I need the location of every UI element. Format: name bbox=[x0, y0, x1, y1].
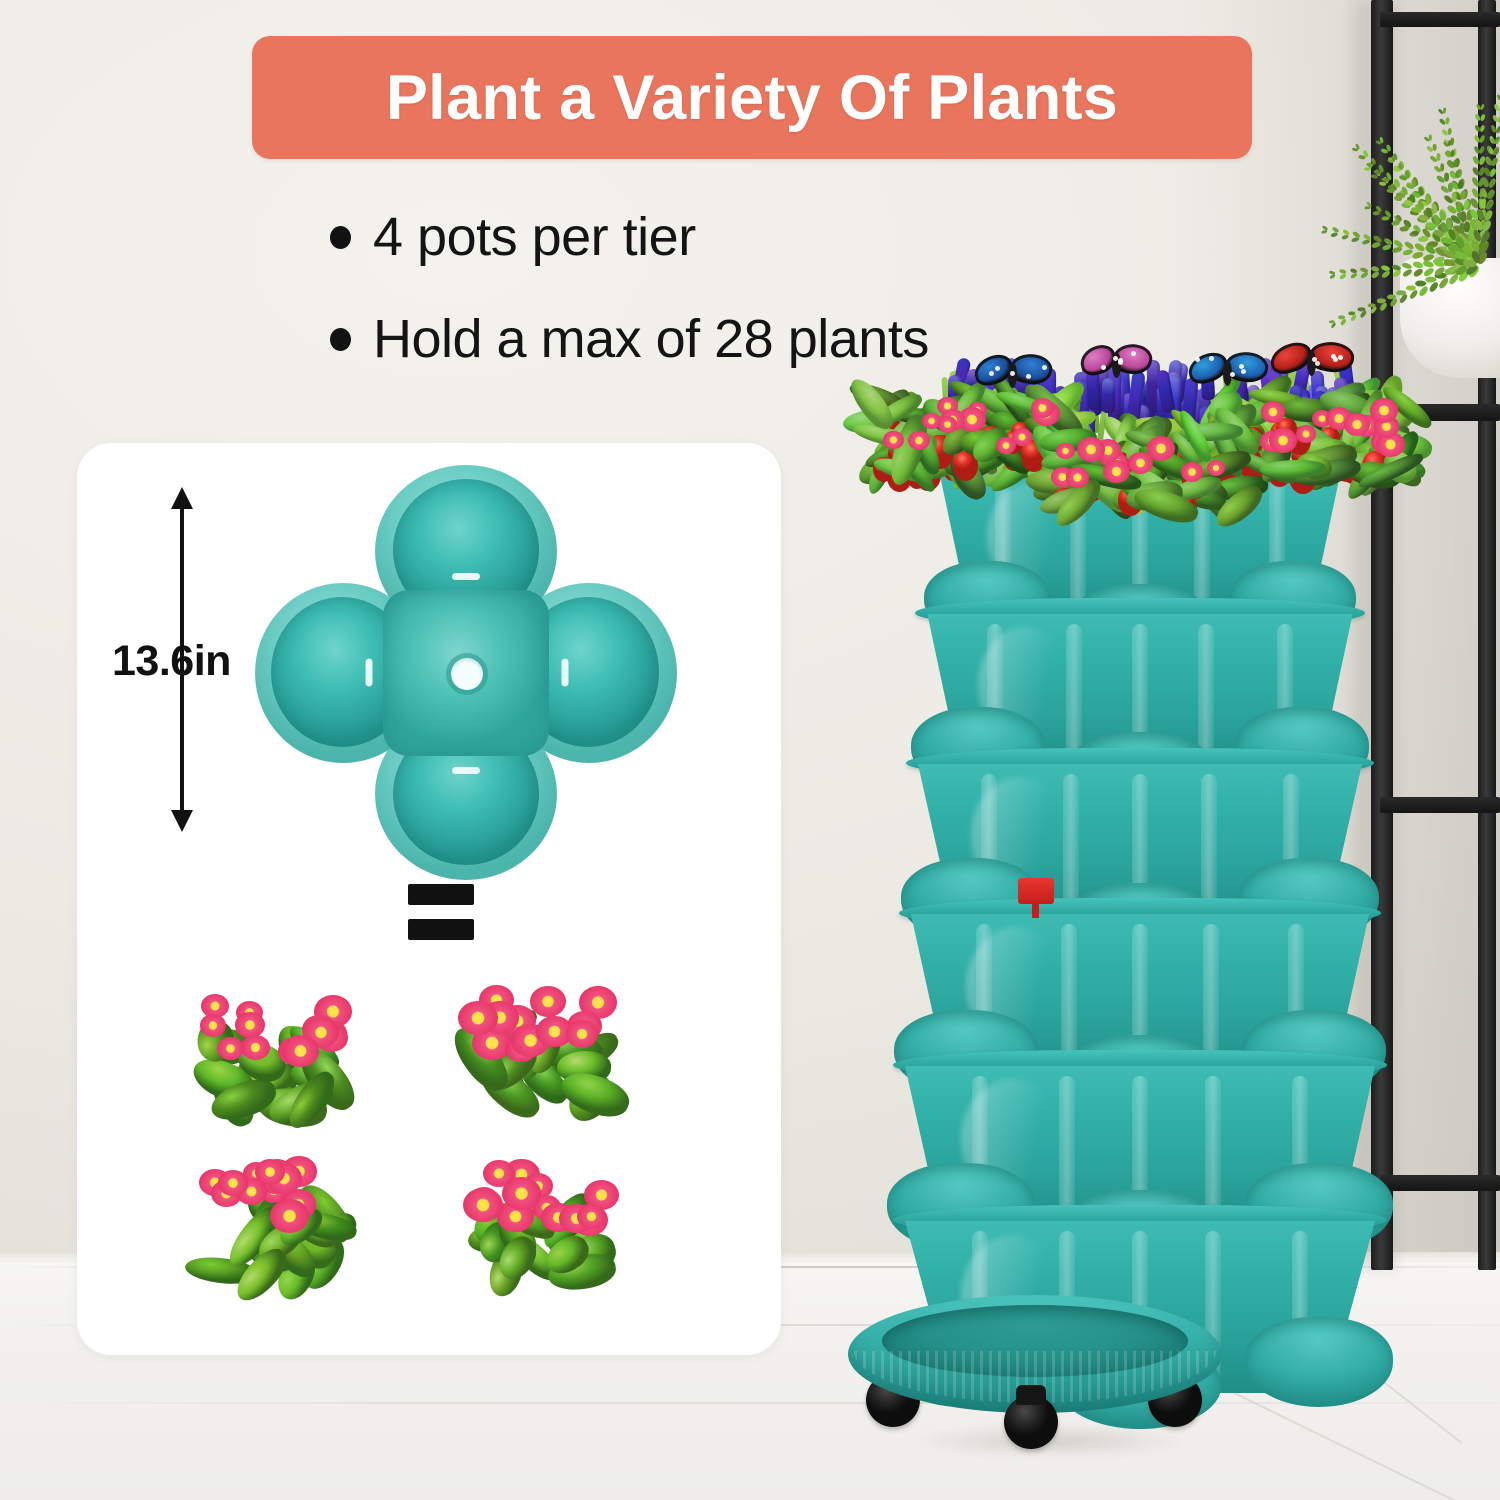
bullet-dot-icon bbox=[330, 328, 351, 351]
butterfly-ornament bbox=[1270, 342, 1354, 388]
primrose-plant bbox=[183, 1147, 368, 1277]
dimension-label: 13.6in bbox=[112, 637, 231, 686]
shelf-rail-2 bbox=[1380, 797, 1500, 813]
plant-marker-tag bbox=[1018, 878, 1054, 904]
tier-pocket bbox=[1245, 1317, 1393, 1406]
equals-sign-icon bbox=[408, 884, 474, 940]
primrose-plant bbox=[443, 975, 628, 1105]
bullet-label: 4 pots per tier bbox=[373, 206, 696, 268]
drain-hole bbox=[451, 658, 483, 690]
shelf-rail-top bbox=[1380, 12, 1500, 27]
primrose-foliage bbox=[1032, 421, 1248, 516]
butterfly-ornament bbox=[1188, 352, 1268, 398]
headline-banner: Plant a Variety Of Plants bbox=[252, 36, 1252, 159]
primrose-plant bbox=[447, 1147, 632, 1277]
primrose-plant bbox=[175, 975, 360, 1105]
list-item: 4 pots per tier bbox=[330, 206, 1130, 268]
bullet-label: Hold a max of 28 plants bbox=[373, 308, 929, 370]
butterfly-ornament bbox=[974, 354, 1052, 400]
butterfly-ornament bbox=[1080, 344, 1152, 390]
shelf-rail-3 bbox=[1380, 1175, 1500, 1191]
primrose-plant-grid bbox=[175, 975, 645, 1275]
bullet-dot-icon bbox=[330, 226, 351, 249]
planter-tier-top-view bbox=[255, 465, 675, 880]
caster-wheel bbox=[1004, 1395, 1058, 1449]
wheeled-base-caddy bbox=[848, 1295, 1222, 1443]
page-title: Plant a Variety Of Plants bbox=[386, 62, 1118, 134]
